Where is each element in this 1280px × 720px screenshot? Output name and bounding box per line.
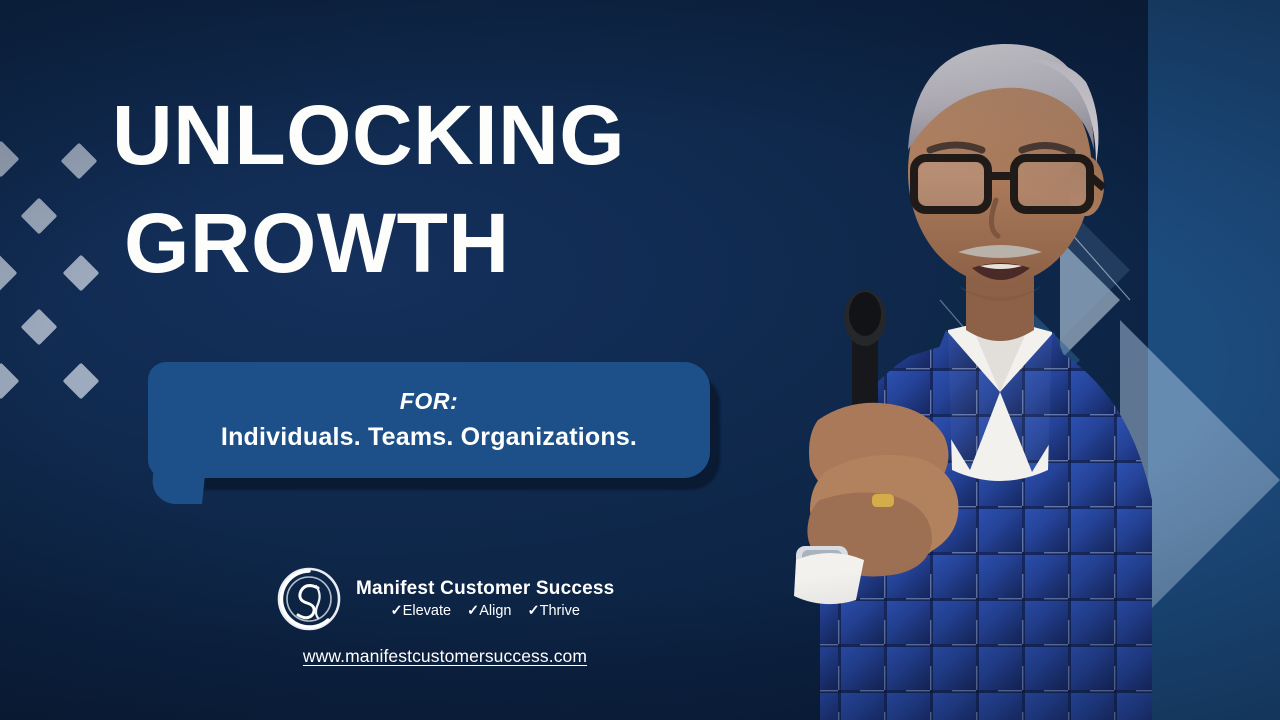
brand-name: Manifest Customer Success [356,579,614,600]
tagline-item-thrive: ✓Thrive [527,603,579,619]
diamond-icon [0,255,17,292]
check-icon: ✓ [527,603,539,619]
check-icon: ✓ [391,603,403,619]
tagline-item-elevate: ✓Elevate [391,603,452,619]
diamond-icon [63,255,100,292]
brand-logo: Manifest Customer Success ✓Elevate ✓Alig… [276,566,614,632]
presentation-slide: UNLOCKING GROWTH FOR: Individuals. Teams… [0,0,1280,720]
diamond-icon [21,198,58,235]
callout-body: FOR: Individuals. Teams. Organizations. [148,362,710,478]
headline-line-1: UNLOCKING [112,88,625,182]
brand-tagline: ✓Elevate ✓Align ✓Thrive [356,603,614,619]
diamond-icon [0,141,19,178]
diamond-icon [61,143,98,180]
brand-text: Manifest Customer Success ✓Elevate ✓Alig… [356,579,614,620]
headline-line-2: GROWTH [124,190,752,298]
diamond-pattern [0,120,120,380]
callout-label: FOR: [400,388,459,415]
tagline-word-align: Align [479,603,511,619]
check-icon: ✓ [467,603,479,619]
diamond-icon [21,309,58,346]
tagline-word-thrive: Thrive [540,603,580,619]
speaker-photo [700,0,1280,720]
website-url[interactable]: www.manifestcustomersuccess.com [0,646,890,667]
tagline-word-elevate: Elevate [403,603,451,619]
callout-audiences: Individuals. Teams. Organizations. [221,423,637,452]
tagline-item-align: ✓Align [467,603,511,619]
audience-callout: FOR: Individuals. Teams. Organizations. [148,362,710,478]
mcs-monogram-icon [276,566,342,632]
page-title: UNLOCKING GROWTH [112,82,752,297]
